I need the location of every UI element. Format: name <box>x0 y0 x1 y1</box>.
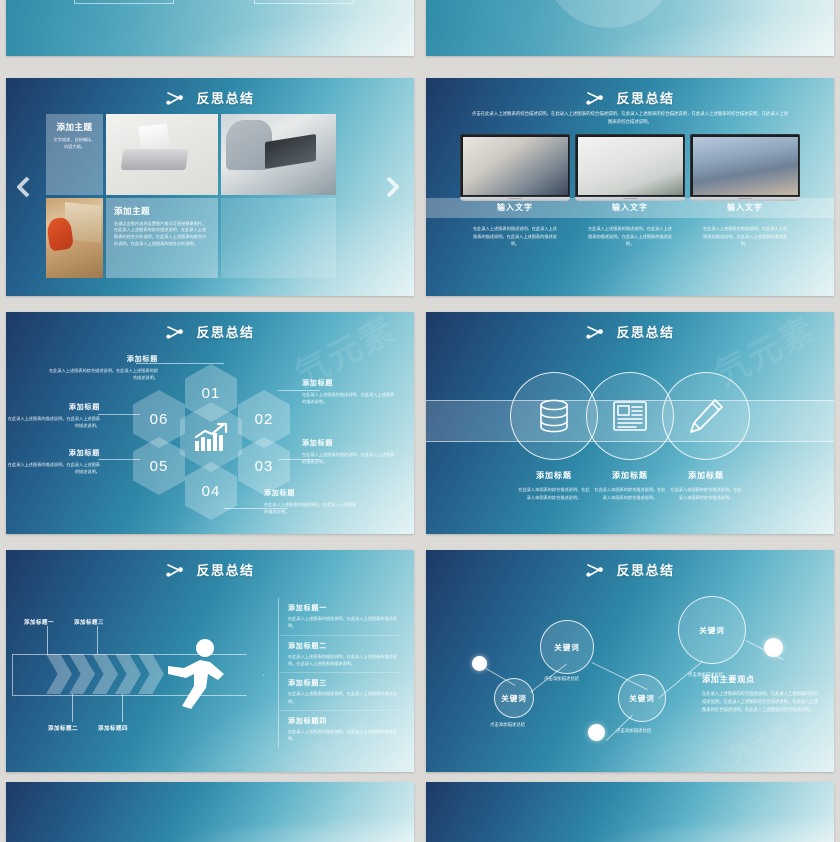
circle-caption[interactable]: 添加标题 在此录入本图表的综合描述说明。在此录入本图表的综合描述说明。 <box>586 470 674 501</box>
slide-vignette <box>426 550 834 772</box>
runner-item-body: 在此录入上述图表的描述说明。在此录入上述图表的描述说明。 <box>288 615 400 630</box>
screen-bulb-icon <box>188 0 240 8</box>
caption-title: 输入文字 <box>575 202 685 213</box>
slide-thumbnail-top-left[interactable]: 输入内容 在此录入图表的描述说明，在此录入图表的描述说明，在此录入图表的描述说明… <box>6 0 414 56</box>
hex-label-body: 在此录入上述图表的描述说明。在此录入上述图表的描述说明。 <box>302 451 398 466</box>
accent-dot <box>588 724 605 741</box>
runner-list-item[interactable]: 添加标题一 在此录入上述图表的描述说明。在此录入上述图表的描述说明。 <box>278 598 400 635</box>
circle-body: 在此录入本图表的综合描述说明。在此录入本图表的综合描述说明。 <box>670 486 742 501</box>
network-node-icon <box>585 90 607 106</box>
photo-typing-hands[interactable] <box>221 114 336 195</box>
hex-number: 04 <box>202 483 221 500</box>
accent-dot <box>764 638 783 657</box>
running-person-icon <box>154 638 232 712</box>
tick-label-2: 添加标题二 <box>48 724 78 732</box>
circle-caption-row: 添加标题 在此录入本图表的综合描述说明。在此录入本图表的综合描述说明。 添加标题… <box>426 470 834 501</box>
photo-writing-notes <box>463 137 568 195</box>
runner-item-title: 添加标题二 <box>288 641 400 651</box>
laptop-item[interactable] <box>690 134 800 201</box>
slide-title: 反思总结 <box>196 88 254 107</box>
slide-thumbnail-next-right[interactable] <box>426 782 834 842</box>
circle-title: 添加标题 <box>586 470 674 481</box>
network-node-icon <box>165 562 187 578</box>
hex-label-body: 在此录入上述图表的综合描述说明。在此录入上述图表的综合描述说明。 <box>48 367 158 382</box>
laptop-screen <box>460 134 570 197</box>
tp-card-right: 输入内容 在此录入图表的描述说明，在此录入图表的描述说明，在此录入图表的描述说明… <box>254 0 354 4</box>
keyword-label: 关键词 <box>629 693 655 704</box>
caption-item[interactable]: 输入文字 在此录入上述图表的描述说明。在此录入上述图表的描述说明。在此录入上述图… <box>575 198 685 248</box>
hex-label-03[interactable]: 添加标题 在此录入上述图表的描述说明。在此录入上述图表的描述说明。 <box>302 438 398 466</box>
collage-text-panel-b[interactable]: 添加主题 右键点击图片选择设置图片格式可直接替换图片。在此录入上述图表的综合描述… <box>106 198 218 279</box>
circle-title: 添加标题 <box>510 470 598 481</box>
hex-label-title: 添加标题 <box>302 438 398 448</box>
slide-header: 反思总结 <box>6 88 414 107</box>
caption-item[interactable]: 输入文字 在此录入上述图表的描述说明。在此录入上述图表的描述说明。在此录入上述图… <box>690 198 800 248</box>
circle-title: 添加标题 <box>662 470 750 481</box>
circle-item-database[interactable] <box>510 372 598 460</box>
caption-title: 输入文字 <box>690 202 800 213</box>
laptop-item[interactable] <box>460 134 570 201</box>
slide-vignette <box>6 782 414 842</box>
hex-label-02[interactable]: 添加标题 在此录入上述图表的描述说明。在此录入上述图表的描述说明。 <box>302 378 398 406</box>
caption-body: 在此录入上述图表的描述说明。在此录入上述图表的描述说明。在此录入上述图表的描述说… <box>702 225 788 248</box>
photo-desk-laptop[interactable] <box>106 114 218 195</box>
caption-item[interactable]: 输入文字 在此录入上述图表的描述说明。在此录入上述图表的描述说明。在此录入上述图… <box>460 198 570 248</box>
hex-label-body: 在此录入上述图表的描述说明。在此录入上述图表的描述说明。 <box>302 391 398 406</box>
hex-label-body: 在此录入上述图表的描述说明。在此录入上述图表的描述说明。 <box>264 501 360 516</box>
keyword-caption-1: 点击添加描述总结 <box>490 722 525 728</box>
slide-vignette <box>426 782 834 842</box>
network-node-icon <box>585 324 607 340</box>
tp-card-left: 输入内容 在此录入图表的描述说明，在此录入图表的描述说明，在此录入图表的描述说明… <box>74 0 174 4</box>
slide-thumbnail-hexagons[interactable]: 氕元素 反思总结 <box>6 312 414 534</box>
hex-number: 06 <box>150 411 169 428</box>
growth-chart-icon <box>194 422 228 452</box>
caption-body: 在此录入上述图表的描述说明。在此录入上述图表的描述说明。在此录入上述图表的描述说… <box>587 225 673 248</box>
keyword-node-3[interactable]: 关键词 <box>618 674 666 722</box>
slide-thumbnail-circles[interactable]: 氕元素 反思总结 <box>426 312 834 534</box>
newspaper-icon <box>610 397 650 435</box>
hex-label-title: 添加标题 <box>48 354 158 364</box>
side-body: 在此录入上述图表的综合描述说明。在此录入上述图表的综合描述说明。在此录入上述图表… <box>702 690 818 714</box>
keyword-caption-3: 点击添加描述总结 <box>616 728 651 734</box>
hex-06[interactable]: 06 <box>133 390 185 448</box>
tick-line-1 <box>47 626 48 654</box>
laptop-screen <box>575 134 685 197</box>
hex-label-title: 添加标题 <box>302 378 398 388</box>
circle-caption[interactable]: 添加标题 在此录入本图表的综合描述说明。在此录入本图表的综合描述说明。 <box>662 470 750 501</box>
circle-item-pencil[interactable] <box>662 372 750 460</box>
pencil-icon <box>686 396 726 436</box>
network-node-icon <box>165 90 187 106</box>
slide-header: 反思总结 <box>6 560 414 579</box>
circle-row <box>426 372 834 460</box>
leader-line-05 <box>98 459 140 460</box>
tick-line-2 <box>72 694 73 722</box>
photo-laptop-desk <box>578 137 683 195</box>
slide-header: 反思总结 <box>426 88 834 107</box>
hex-label-04[interactable]: 添加标题 在此录入上述图表的描述说明。在此录入上述图表的描述说明。 <box>264 488 360 516</box>
slide-title: 反思总结 <box>616 322 674 341</box>
panel-a-body: 文字描述、总结概括、内容大纲。 <box>53 137 96 150</box>
slide-thumbnail-keywords[interactable]: 氕元素 反思总结 关键词 关键词 关键词 关键词 <box>426 550 834 772</box>
slide-thumbnail-collage[interactable]: 反思总结 添加主题 文字描述、总结概括、内容大纲。 添加主题 右键点击图片选择设… <box>6 78 414 296</box>
hex-label-body: 在此录入上述图表的描述说明。在此录入上述图表的描述说明。 <box>6 461 100 476</box>
slide-title: 反思总结 <box>616 88 674 107</box>
slide-header: 反思总结 <box>426 560 834 579</box>
accent-dot <box>472 656 487 671</box>
panel-a-title: 添加主题 <box>46 121 103 133</box>
caption-body: 在此录入上述图表的描述说明。在此录入上述图表的描述说明。在此录入上述图表的描述说… <box>472 225 558 248</box>
hex-label-body: 在此录入上述图表的描述说明。在此录入上述图表的描述说明。 <box>6 415 100 430</box>
hex-number: 03 <box>255 458 274 475</box>
keyword-node-1[interactable]: 关键词 <box>494 678 534 718</box>
keyword-node-2[interactable]: 关键词 <box>540 620 594 674</box>
hex-number: 01 <box>202 385 221 402</box>
slide-thumbnail-top-right[interactable] <box>426 0 834 56</box>
panel-b-body: 右键点击图片选择设置图片格式可直接替换图片。在此录入上述图表的综合描述说明，在此… <box>114 221 208 248</box>
runner-item-body: 在此录入上述图表的描述说明。在此录入上述图表的描述说明。 <box>288 728 400 743</box>
keyword-label: 关键词 <box>554 642 580 653</box>
runner-item-body: 在此录入上述图表的描述说明。在此录入上述图表的描述说明。 <box>288 690 400 705</box>
slide-title: 反思总结 <box>196 560 254 579</box>
slide-thumbnail-laptops[interactable]: 反思总结 点击在此录入上述图表的综合描述说明，在此录入上述图表的综合描述说明，在… <box>426 78 834 296</box>
lead-paragraph: 点击在此录入上述图表的综合描述说明，在此录入上述图表的综合描述说明，在此录入上述… <box>470 110 790 126</box>
keyword-side-panel[interactable]: 添加主要观点 在此录入上述图表的综合描述说明。在此录入上述图表的综合描述说明。在… <box>702 674 818 714</box>
hexagon-diagram: 01 02 03 04 05 06 添加标题 在此录入上述图表的综合描述说明。在… <box>6 312 414 534</box>
tick-line-3 <box>97 626 98 654</box>
network-node-icon <box>585 562 607 578</box>
laptop-row <box>460 134 800 201</box>
circle-body: 在此录入本图表的综合描述说明。在此录入本图表的综合描述说明。 <box>518 486 590 501</box>
photo-city-buildings <box>693 137 798 195</box>
circle-item-newspaper[interactable] <box>586 372 674 460</box>
caption-title: 输入文字 <box>460 202 570 213</box>
keyword-label: 关键词 <box>501 693 527 704</box>
photo-chair-desk[interactable] <box>46 198 103 279</box>
hex-number: 05 <box>150 458 169 475</box>
runner-item-title: 添加标题三 <box>288 678 400 688</box>
runner-list-item[interactable]: 添加标题二 在此录入上述图表的描述说明。在此录入上述图表的描述说明。在此录入上述… <box>278 635 400 673</box>
circle-caption[interactable]: 添加标题 在此录入本图表的综合描述说明。在此录入本图表的综合描述说明。 <box>510 470 598 501</box>
hex-number: 02 <box>255 411 274 428</box>
hex-label-title: 添加标题 <box>264 488 360 498</box>
hex-04[interactable]: 04 <box>185 462 237 520</box>
slide-title: 反思总结 <box>616 560 674 579</box>
slide-gallery: 输入内容 在此录入图表的描述说明，在此录入图表的描述说明，在此录入图表的描述说明… <box>0 0 840 788</box>
database-icon <box>534 396 574 436</box>
hex-label-05[interactable]: 添加标题 在此录入上述图表的描述说明。在此录入上述图表的描述说明。 <box>6 448 100 476</box>
keyword-caption-2: 点击添加描述总结 <box>544 676 579 682</box>
leader-line-06 <box>98 414 140 415</box>
runner-item-title: 添加标题四 <box>288 716 400 726</box>
panel-b-title: 添加主题 <box>114 205 218 217</box>
laptop-item[interactable] <box>575 134 685 201</box>
hex-label-title: 添加标题 <box>6 448 100 458</box>
tick-label-3: 添加标题三 <box>74 618 104 626</box>
runner-item-body: 在此录入上述图表的描述说明。在此录入上述图表的描述说明。在此录入上述图表的描述说… <box>288 653 400 668</box>
collage-empty-panel <box>221 198 336 279</box>
hex-label-01[interactable]: 添加标题 在此录入上述图表的综合描述说明。在此录入上述图表的综合描述说明。 <box>48 354 158 382</box>
runner-list: 添加标题一 在此录入上述图表的描述说明。在此录入上述图表的描述说明。 添加标题二… <box>278 598 400 748</box>
collage-grid: 添加主题 文字描述、总结概括、内容大纲。 添加主题 右键点击图片选择设置图片格式… <box>46 114 374 278</box>
hex-03[interactable]: 03 <box>238 437 290 495</box>
slide-thumbnail-runner[interactable]: 氕元素 反思总结 添加标题一 添加标题三 添加标题二 添加标题四 <box>6 550 414 772</box>
keyword-node-4[interactable]: 关键词 <box>678 596 746 664</box>
hex-label-title: 添加标题 <box>6 402 100 412</box>
runner-item-title: 添加标题一 <box>288 603 400 613</box>
tick-line-4 <box>122 694 123 722</box>
tick-label-4: 添加标题四 <box>98 724 128 732</box>
tick-label-1: 添加标题一 <box>24 618 54 626</box>
runner-list-item[interactable]: 添加标题四 在此录入上述图表的描述说明。在此录入上述图表的描述说明。 <box>278 710 400 748</box>
collage-text-panel-a[interactable]: 添加主题 文字描述、总结概括、内容大纲。 <box>46 114 103 195</box>
keyword-label: 关键词 <box>699 625 725 636</box>
slide-thumbnail-next-left[interactable] <box>6 782 414 842</box>
side-title: 添加主要观点 <box>702 674 818 685</box>
laptop-screen <box>690 134 800 197</box>
runner-list-item[interactable]: 添加标题三 在此录入上述图表的描述说明。在此录入上述图表的描述说明。 <box>278 672 400 710</box>
slide-header: 反思总结 <box>426 322 834 341</box>
hex-label-06[interactable]: 添加标题 在此录入上述图表的描述说明。在此录入上述图表的描述说明。 <box>6 402 100 430</box>
caption-row: 输入文字 在此录入上述图表的描述说明。在此录入上述图表的描述说明。在此录入上述图… <box>460 198 800 248</box>
slide-vignette <box>6 0 414 56</box>
circle-body: 在此录入本图表的综合描述说明。在此录入本图表的综合描述说明。 <box>594 486 666 501</box>
